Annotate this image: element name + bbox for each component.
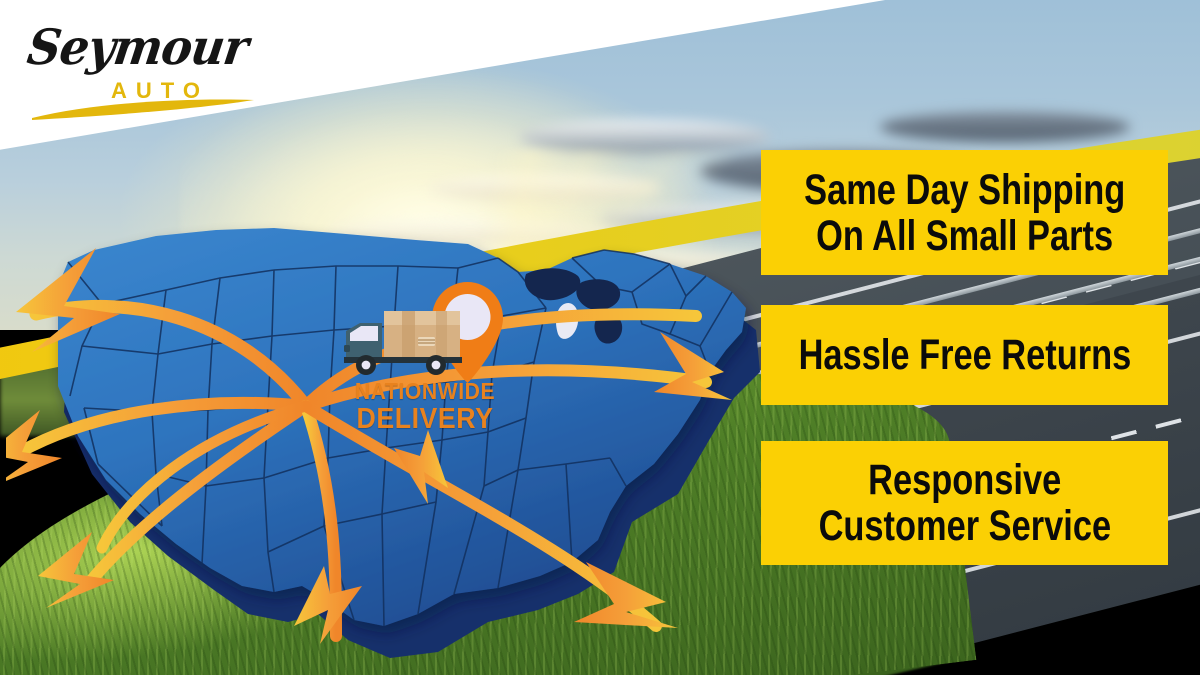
promo-banner-responsive-customer-service[interactable]: Responsive Customer Service bbox=[761, 441, 1168, 565]
promo-banner-stage: NATIONWIDE DELIVERY Seymour AUTO Same Da… bbox=[0, 0, 1200, 675]
banner-line: Hassle Free Returns bbox=[798, 332, 1131, 378]
delivery-truck-icon bbox=[340, 307, 470, 379]
nationwide-delivery-label: NATIONWIDE DELIVERY bbox=[330, 380, 520, 434]
banner-line: On All Small Parts bbox=[816, 213, 1113, 259]
seymour-auto-logo[interactable]: Seymour AUTO bbox=[28, 18, 258, 118]
banner-line: Customer Service bbox=[818, 503, 1111, 549]
logo-swoosh-underline bbox=[28, 96, 258, 122]
banner-line: Responsive bbox=[868, 457, 1061, 503]
callout-line-2: DELIVERY bbox=[338, 405, 513, 434]
banner-line: Same Day Shipping bbox=[804, 167, 1125, 213]
promo-banner-same-day-shipping[interactable]: Same Day Shipping On All Small Parts bbox=[761, 150, 1168, 275]
promo-banner-hassle-free-returns[interactable]: Hassle Free Returns bbox=[761, 305, 1168, 405]
logo-script-text: Seymour bbox=[24, 18, 251, 75]
callout-line-1: NATIONWIDE bbox=[338, 380, 513, 403]
nationwide-delivery-callout: NATIONWIDE DELIVERY bbox=[330, 280, 520, 450]
